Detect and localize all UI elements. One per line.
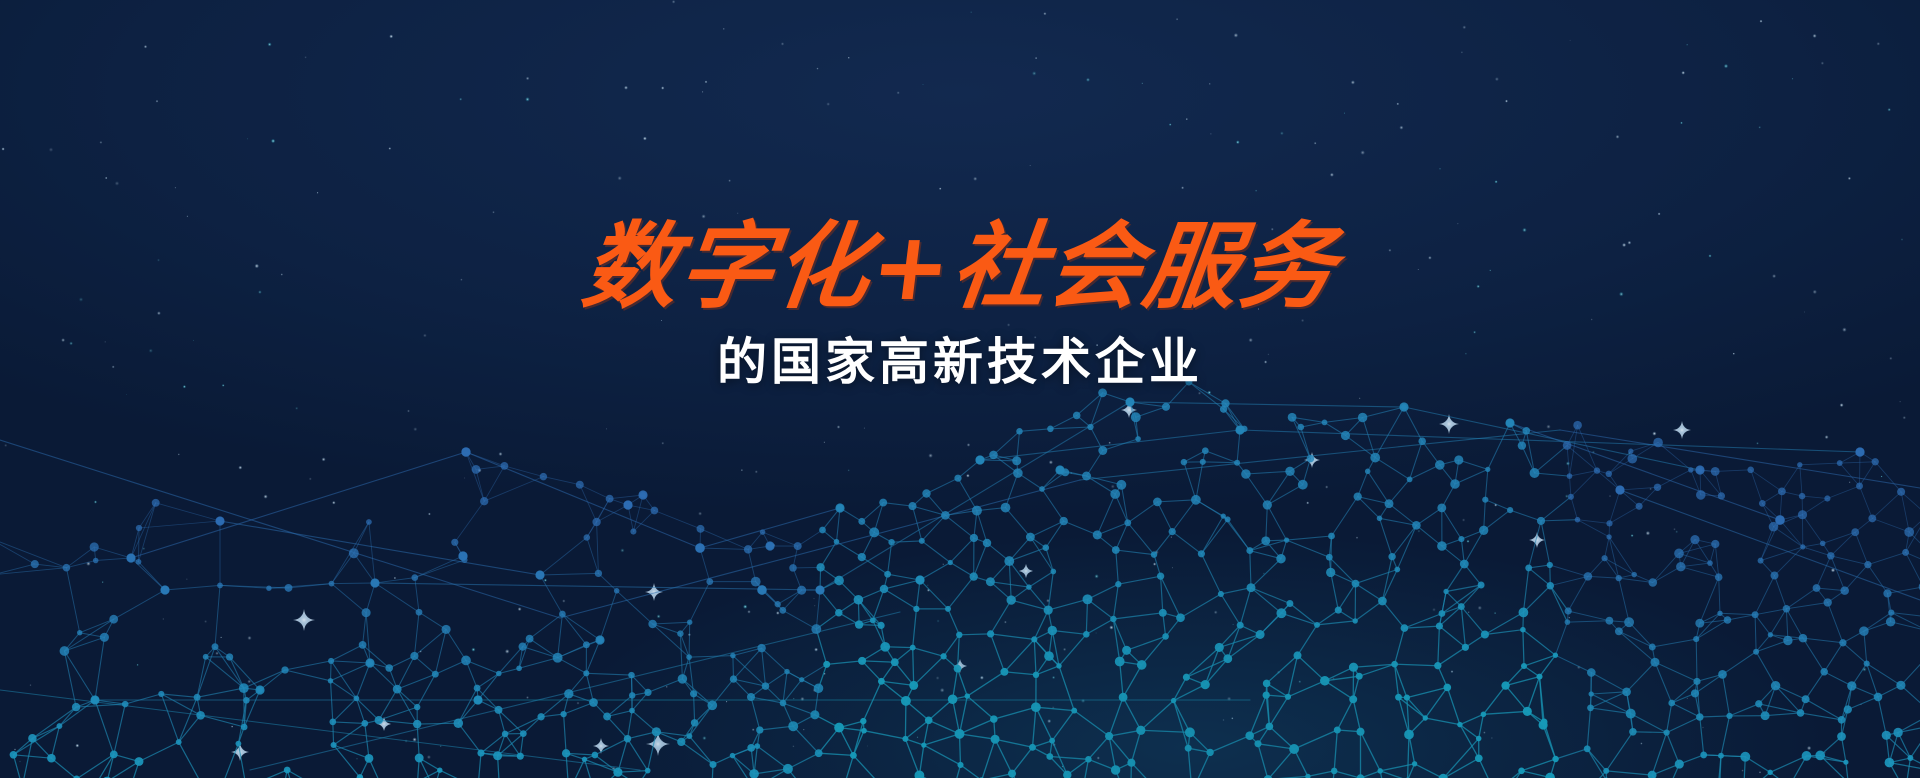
hero-banner: 数字化+社会服务 的国家高新技术企业 xyxy=(0,0,1920,778)
page-title: 数字化+社会服务 xyxy=(0,218,1920,318)
hero-text-block: 数字化+社会服务 的国家高新技术企业 xyxy=(0,218,1920,389)
page-subtitle: 的国家高新技术企业 xyxy=(0,334,1920,389)
